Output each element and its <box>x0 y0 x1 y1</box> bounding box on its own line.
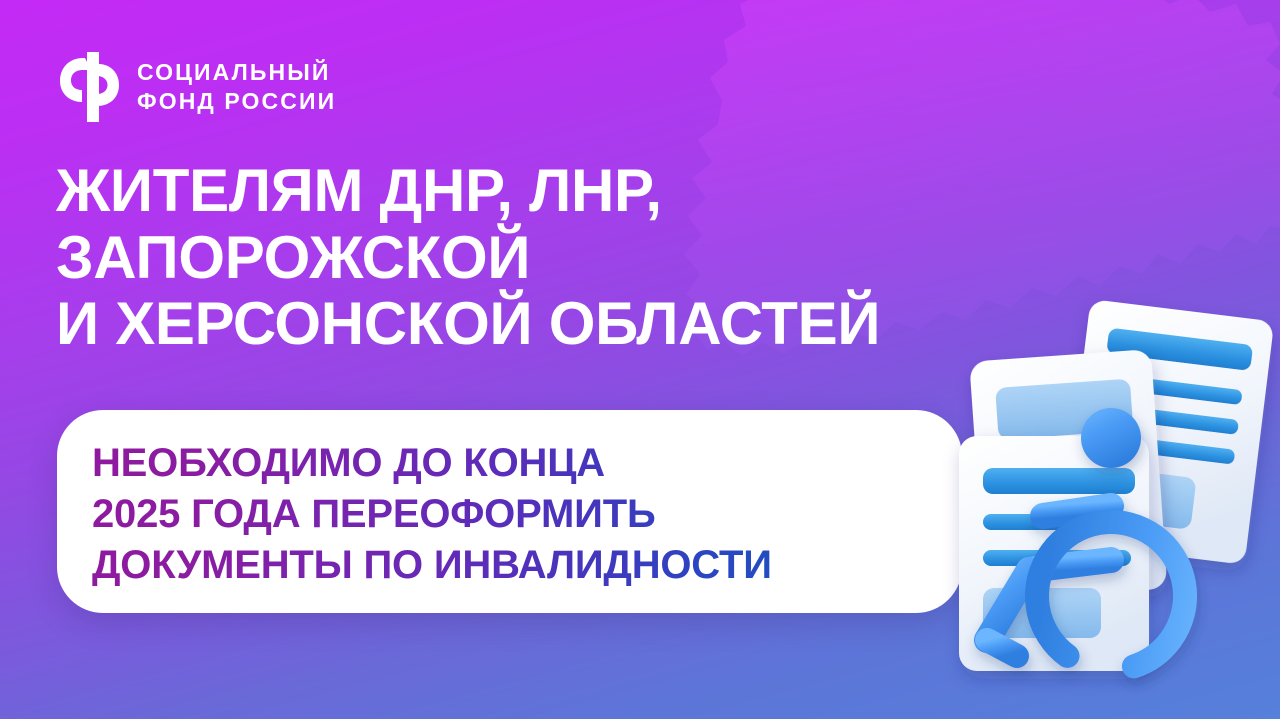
banner-root: СОЦИАЛЬНЫЙ ФОНД РОССИИ ЖИТЕЛЯМ ДНР, ЛНР,… <box>0 0 1280 719</box>
logo-text: СОЦИАЛЬНЫЙ ФОНД РОССИИ <box>137 58 336 117</box>
sfr-monogram-icon <box>57 52 121 122</box>
logo: СОЦИАЛЬНЫЙ ФОНД РОССИИ <box>57 52 336 122</box>
page-title: ЖИТЕЛЯМ ДНР, ЛНР, ЗАПОРОЖСКОЙ И ХЕРСОНСК… <box>56 158 1016 358</box>
disability-documents-illustration <box>925 288 1280 688</box>
callout-card: НЕОБХОДИМО ДО КОНЦА 2025 ГОДА ПЕРЕОФОРМИ… <box>57 410 962 613</box>
callout-card-text: НЕОБХОДИМО ДО КОНЦА 2025 ГОДА ПЕРЕОФОРМИ… <box>92 438 952 592</box>
